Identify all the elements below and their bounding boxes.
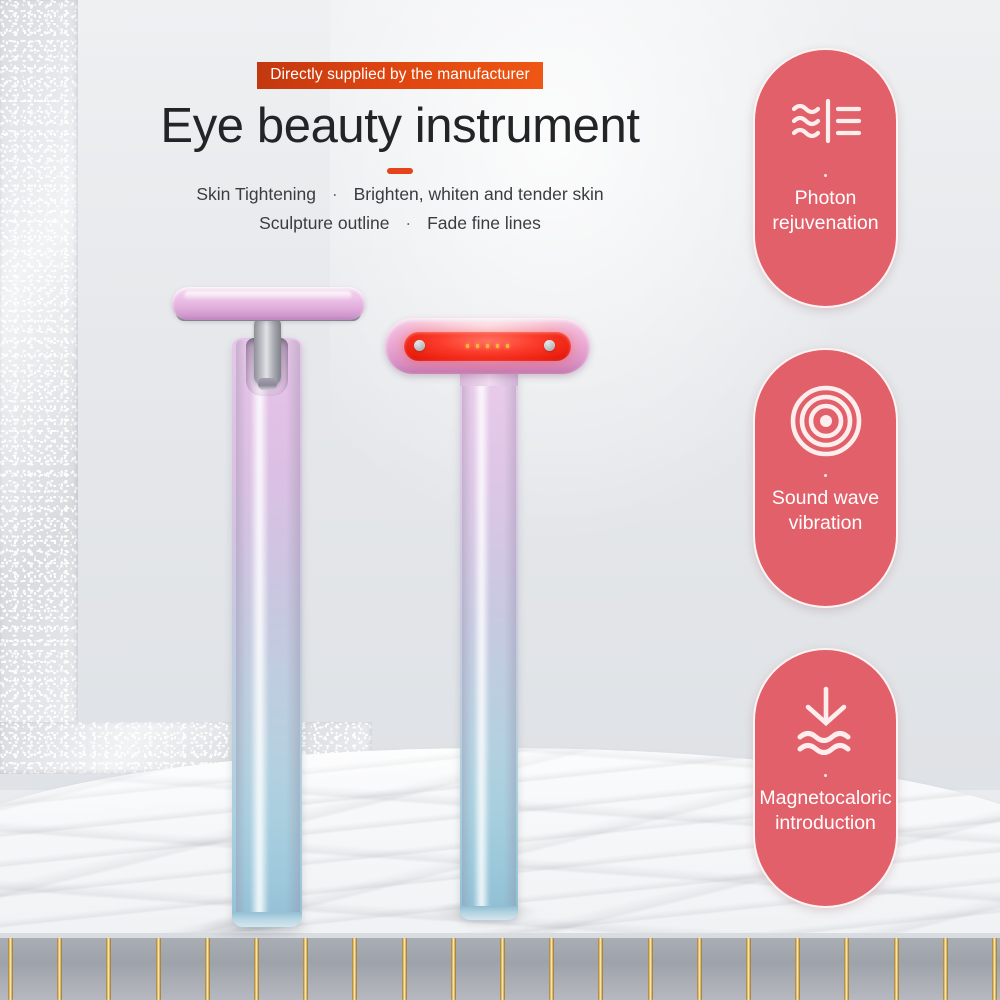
arrow-down-waves-icon: [790, 682, 862, 760]
badge-label: Photon rejuvenation: [766, 186, 884, 236]
table-leg-rod: [352, 938, 357, 1000]
photon-waves-lines-icon: [788, 82, 864, 160]
led-indicator-1: [466, 344, 469, 348]
product-left-t-bar-device[interactable]: [150, 282, 380, 932]
badge-label-line-1: Sound wave: [772, 486, 879, 511]
table-leg-rod: [303, 938, 308, 1000]
right-handle-shade-left: [462, 374, 471, 918]
left-handle-shade-right: [286, 340, 300, 924]
table-leg-rod: [106, 938, 111, 1000]
badge-separator-dot: [824, 774, 827, 777]
badge-label-line-2: rejuvenation: [772, 211, 878, 236]
title-divider-dash: [387, 168, 413, 174]
table-leg-rod: [451, 938, 456, 1000]
left-handle-shade-left: [236, 340, 246, 924]
subtitle-2-right: Fade fine lines: [427, 213, 541, 233]
subtitle-1-left: Skin Tightening: [196, 184, 316, 204]
table-leg-rod: [992, 938, 997, 1000]
led-indicator-2: [476, 344, 479, 348]
subtitle-line-1: Skin Tightening · Brighten, whiten and t…: [120, 181, 680, 208]
subtitle-line-2: Sculpture outline · Fade fine lines: [120, 210, 680, 237]
left-head-gloss: [184, 291, 352, 300]
table-leg-rod: [156, 938, 161, 1000]
table-leg-rod: [894, 938, 899, 1000]
led-indicator-5: [506, 344, 509, 348]
left-metal-neck: [254, 318, 281, 386]
page-title: Eye beauty instrument: [120, 100, 680, 153]
subtitle-2-separator: ·: [394, 210, 422, 237]
table-leg-rod: [648, 938, 653, 1000]
table-leg-rod: [795, 938, 800, 1000]
badge-separator-dot: [824, 474, 827, 477]
table-leg-rod: [57, 938, 62, 1000]
right-handle-shade-right: [504, 374, 516, 918]
badge-label-line-1: Photon: [772, 186, 878, 211]
left-handle-base-cap: [232, 912, 302, 927]
table-leg-rod: [549, 938, 554, 1000]
table-leg-rod: [746, 938, 751, 1000]
manufacturer-ribbon-badge: Directly supplied by the manufacturer: [257, 62, 543, 89]
headline-block: Directly supplied by the manufacturer Ey…: [120, 62, 680, 237]
table-leg-rod: [500, 938, 505, 1000]
table-leg-rod: [8, 938, 13, 1000]
left-handle-highlight: [251, 340, 268, 924]
concentric-circles-icon: [789, 382, 863, 460]
badge-separator-dot: [824, 174, 827, 177]
table-leg-rod: [943, 938, 948, 1000]
subtitle-2-left: Sculpture outline: [259, 213, 389, 233]
badge-label-line-2: introduction: [759, 811, 891, 836]
product-right-led-wand[interactable]: [378, 314, 598, 932]
gold-table-legs: [0, 938, 1000, 1000]
left-metal-neck-tip: [258, 378, 277, 390]
subtitle-1-right: Brighten, whiten and tender skin: [354, 184, 604, 204]
led-indicator-4: [496, 344, 499, 348]
badge-label: Magnetocaloric introduction: [753, 786, 897, 836]
table-leg-rod: [844, 938, 849, 1000]
badge-label-line-1: Magnetocaloric: [759, 786, 891, 811]
table-leg-rod: [697, 938, 702, 1000]
badge-label-line-2: vibration: [772, 511, 879, 536]
table-leg-rod: [254, 938, 259, 1000]
badge-label: Sound wave vibration: [766, 486, 885, 536]
metal-contact-dot-left: [414, 340, 425, 351]
table-leg-rod: [598, 938, 603, 1000]
feature-badge-sound-wave-vibration[interactable]: Sound wave vibration: [753, 348, 898, 608]
metal-contact-dot-right: [544, 340, 555, 351]
feature-badge-photon-rejuvenation[interactable]: Photon rejuvenation: [753, 48, 898, 308]
textured-wall-panel-vertical: [0, 0, 78, 762]
table-leg-rod: [402, 938, 407, 1000]
led-indicator-3: [486, 344, 489, 348]
right-handle-highlight: [474, 374, 489, 918]
right-handle-base-cap: [460, 906, 518, 920]
table-leg-rod: [205, 938, 210, 1000]
subtitle-1-separator: ·: [321, 181, 349, 208]
feature-badge-magnetocaloric-introduction[interactable]: Magnetocaloric introduction: [753, 648, 898, 908]
